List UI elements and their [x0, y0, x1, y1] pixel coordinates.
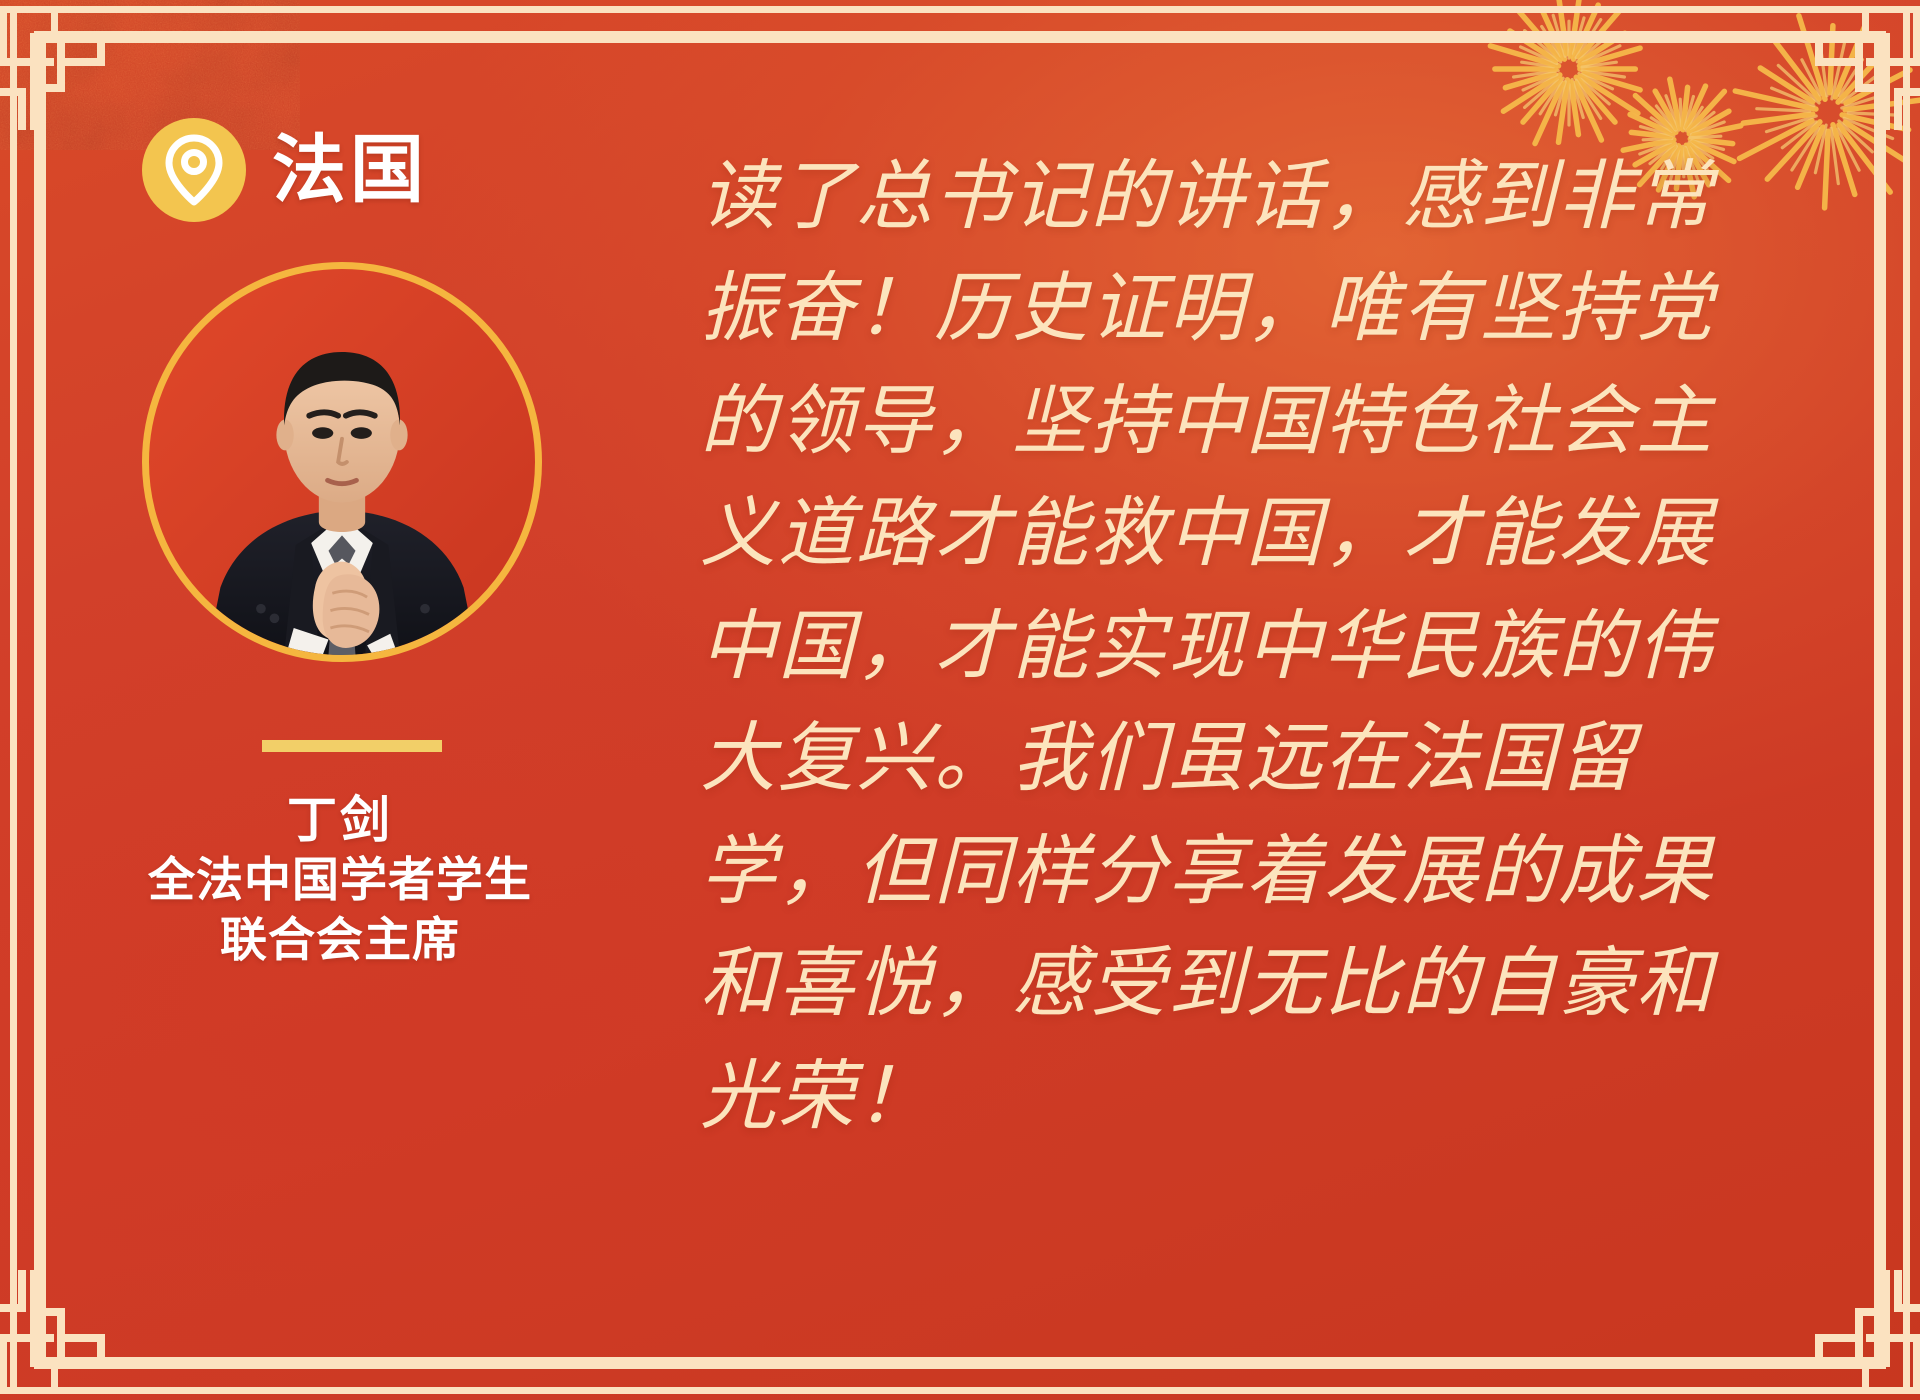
quote-text: 读了总书记的讲话，感到非常 振奋！历史证明，唯有坚持党 的领导，坚持中国特色社会… [700, 140, 1830, 1152]
corner-ornament-bottom-right [1790, 1270, 1920, 1400]
location-pin-icon [142, 118, 246, 222]
person-title-line-1: 全法中国学者学生 [70, 850, 610, 910]
frame-outer-left [10, 6, 17, 1394]
section-divider [262, 740, 442, 752]
frame-outer-bottom [10, 1387, 1910, 1394]
frame-outer-right [1903, 6, 1910, 1394]
quote-line: 中国，才能实现中华民族的伟 [700, 590, 1830, 702]
quote-line: 大复兴。我们虽远在法国留 [700, 702, 1830, 814]
person-info: 丁剑 全法中国学者学生 联合会主席 [70, 792, 610, 970]
person-name: 丁剑 [70, 792, 610, 850]
firework-burst-1 [1490, 0, 1640, 144]
quote-line: 义道路才能救中国，才能发展 [700, 477, 1830, 589]
quote-line: 光荣！ [700, 1040, 1830, 1152]
frame-inner-bottom [34, 1357, 1886, 1369]
profile-column: 法国 [70, 110, 610, 1290]
avatar-ring [142, 262, 542, 662]
frame-inner-right [1874, 31, 1886, 1369]
quote-line: 读了总书记的讲话，感到非常 [700, 140, 1830, 252]
frame-inner-left [34, 31, 46, 1369]
quote-line: 振奋！历史证明，唯有坚持党 [700, 252, 1830, 364]
quote-line: 和喜悦，感受到无比的自豪和 [700, 927, 1830, 1039]
location-row: 法国 [142, 110, 610, 230]
country-label: 法国 [272, 133, 428, 207]
testimonial-card: 法国 [0, 0, 1920, 1400]
corner-ornament-top-right [1790, 0, 1920, 130]
frame-outer-top [10, 6, 1910, 13]
frame-inner-top [34, 31, 1886, 43]
quote-line: 的领导，坚持中国特色社会主 [700, 365, 1830, 477]
avatar [142, 262, 542, 662]
quote-line: 学，但同样分享着发展的成果 [700, 815, 1830, 927]
person-title-line-2: 联合会主席 [70, 910, 610, 970]
